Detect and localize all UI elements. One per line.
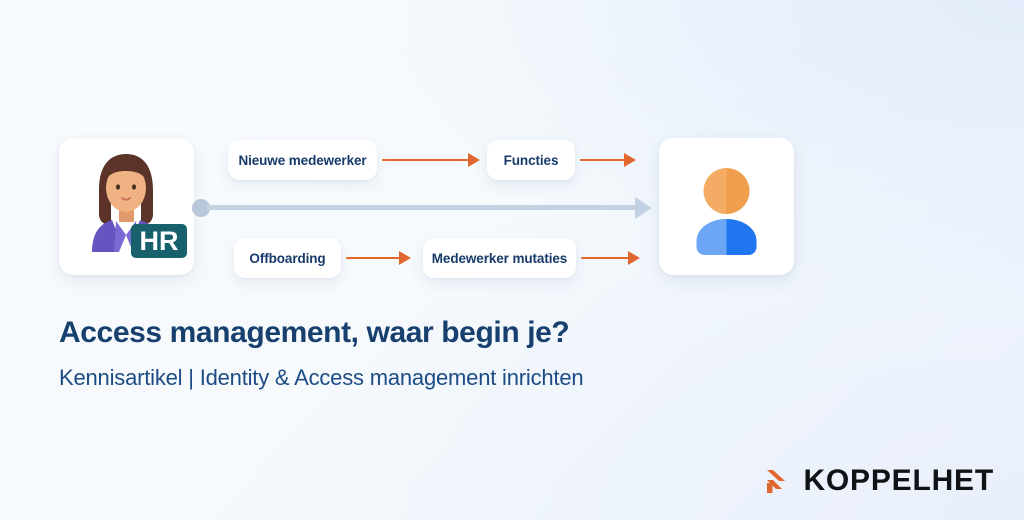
image-canvas: HR Nieuwe medewerker Functies Offboardin… — [0, 0, 1024, 520]
hr-badge-label: HR — [140, 226, 179, 256]
koppelhet-logo: KOPPELHET — [760, 464, 994, 498]
pill-label: Functies — [504, 153, 559, 168]
pill-label: Offboarding — [249, 251, 325, 266]
pill-functies: Functies — [487, 140, 575, 180]
hr-to-user-connector — [192, 196, 652, 220]
generic-user-icon — [659, 138, 794, 275]
connector-line — [206, 205, 638, 210]
user-icon-card — [659, 138, 794, 275]
connector-arrowhead-icon — [635, 197, 652, 219]
pill-nieuwe-medewerker: Nieuwe medewerker — [228, 140, 377, 180]
arrow-right-icon — [346, 251, 411, 265]
arrow-right-icon — [581, 251, 640, 265]
arrow-right-icon — [580, 153, 636, 167]
pill-label: Nieuwe medewerker — [238, 153, 366, 168]
koppelhet-wordmark: KOPPELHET — [803, 464, 994, 498]
page-title: Access management, waar begin je? — [59, 316, 569, 350]
pill-offboarding: Offboarding — [234, 238, 341, 278]
pill-medewerker-mutaties: Medewerker mutaties — [423, 238, 576, 278]
page-subtitle: Kennisartikel | Identity & Access manage… — [59, 365, 583, 391]
hr-person-illustration: HR — [59, 138, 194, 275]
arrow-right-icon — [382, 153, 480, 167]
koppelhet-arrow-mark — [760, 464, 794, 498]
hr-person-card: HR — [59, 138, 194, 275]
pill-label: Medewerker mutaties — [432, 251, 567, 266]
